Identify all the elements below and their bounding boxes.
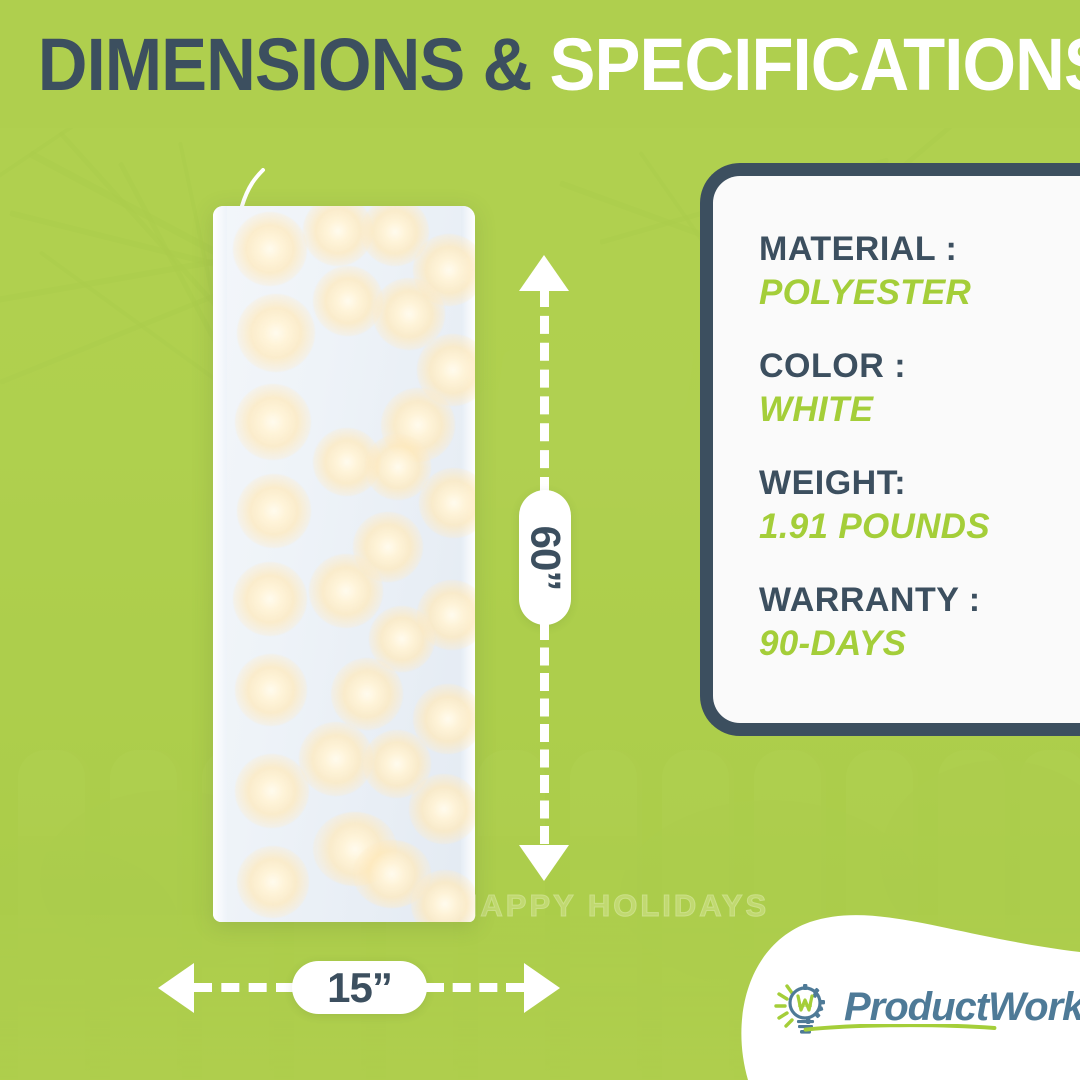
header-band: DIMENSIONS & SPECIFICATIONS xyxy=(0,0,1080,128)
dimension-width-line-right xyxy=(426,983,524,992)
arrow-right-icon xyxy=(524,963,560,1013)
dimension-height-label: 60” xyxy=(521,525,569,590)
dimension-width-line-left xyxy=(194,983,294,992)
spec-row-color: COLOR : WHITE xyxy=(759,345,1080,432)
spec-row-material: MATERIAL : POLYESTER xyxy=(759,228,1080,315)
page-title: DIMENSIONS & SPECIFICATIONS xyxy=(38,20,1042,110)
spec-row-warranty: WARRANTY : 90-DAYS xyxy=(759,579,1080,666)
arrow-down-icon xyxy=(519,845,569,881)
spec-label-color: COLOR : xyxy=(759,345,1080,387)
title-white-part: SPECIFICATIONS xyxy=(550,23,1080,106)
spec-value-weight: 1.91 POUNDS xyxy=(759,504,1080,549)
product-banner-fabric xyxy=(213,206,475,922)
spec-label-weight: WEIGHT: xyxy=(759,462,1080,504)
specifications-list: MATERIAL : POLYESTER COLOR : WHITE WEIGH… xyxy=(759,228,1080,666)
brand-name: ProductWorks xyxy=(844,985,1080,1030)
product-image xyxy=(205,196,485,926)
dimension-height-line-bottom xyxy=(540,622,549,844)
dimension-height-line-top xyxy=(540,289,549,495)
spec-label-material: MATERIAL : xyxy=(759,228,1080,270)
title-dark-part: DIMENSIONS & xyxy=(38,23,532,106)
spec-value-color: WHITE xyxy=(759,387,1080,432)
arrow-up-icon xyxy=(519,255,569,291)
dimension-width-label: 15” xyxy=(327,964,392,1012)
arrow-left-icon xyxy=(158,963,194,1013)
spec-label-warranty: WARRANTY : xyxy=(759,579,1080,621)
brand-underline-swoosh xyxy=(780,1024,1020,1032)
spec-value-material: POLYESTER xyxy=(759,270,1080,315)
dimension-height-badge: 60” xyxy=(519,490,571,625)
banner-left-edge xyxy=(213,206,227,922)
spec-value-warranty: 90-DAYS xyxy=(759,621,1080,666)
spec-row-weight: WEIGHT: 1.91 POUNDS xyxy=(759,462,1080,549)
dimension-width-badge: 15” xyxy=(292,961,427,1014)
specifications-card: MATERIAL : POLYESTER COLOR : WHITE WEIGH… xyxy=(700,163,1080,736)
brand-badge: ProductWorks xyxy=(686,900,1080,1080)
